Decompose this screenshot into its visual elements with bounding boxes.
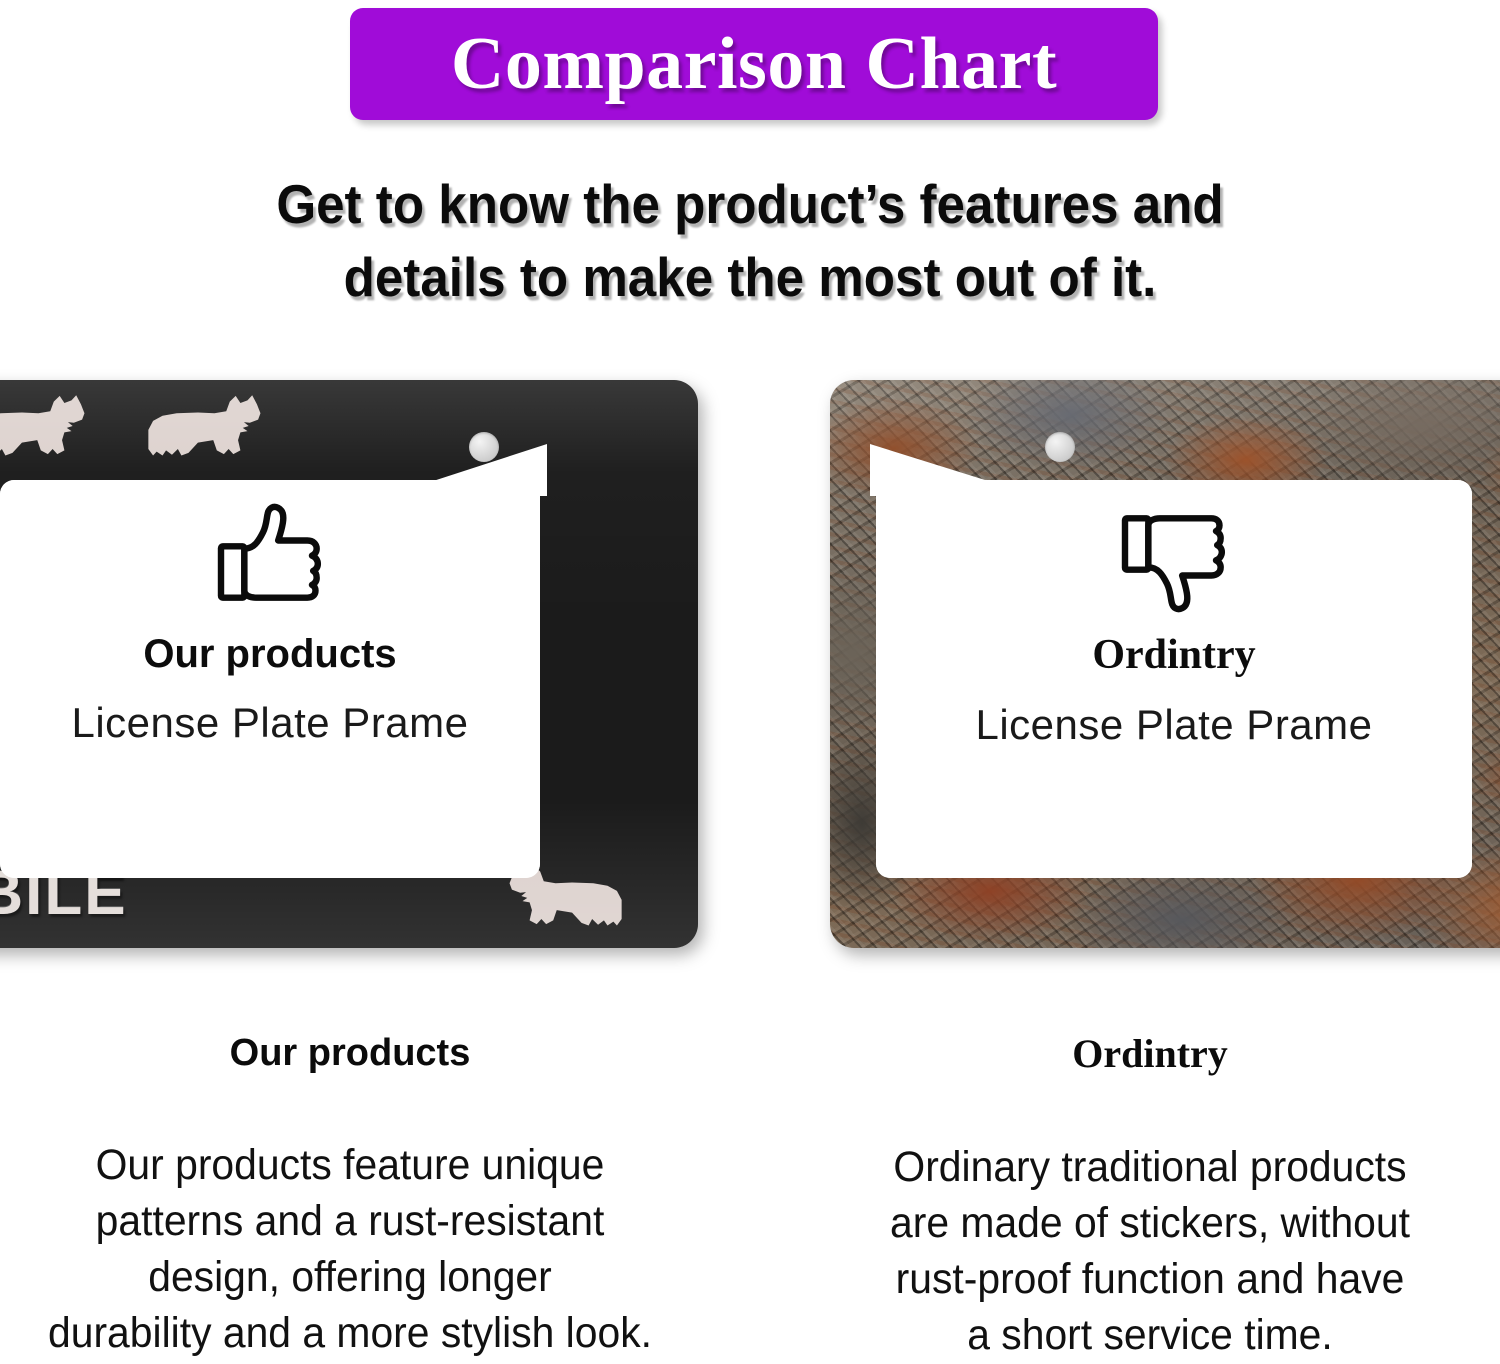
comparison-body-line: are made of stickers, without	[818, 1196, 1483, 1252]
comparison-body-line: patterns and a rust-resistant	[18, 1194, 683, 1250]
window-title-left: Our products	[143, 634, 396, 674]
window-subtitle-right: License Plate Prame	[975, 704, 1372, 746]
comparison-column-our-products: Our products Our products feature unique…	[0, 1034, 700, 1362]
license-plate-window-left: Our products License Plate Prame	[0, 480, 540, 878]
comparison-body-line: a short service time.	[818, 1308, 1483, 1364]
comparison-body-right: Ordinary traditional products are made o…	[818, 1140, 1483, 1364]
comparison-body-line: Our products feature unique	[18, 1138, 683, 1194]
comparison-column-ordintry: Ordintry Ordinary traditional products a…	[800, 1034, 1500, 1364]
window-subtitle-left: License Plate Prame	[71, 702, 468, 744]
corgi-silhouette-icon	[0, 394, 88, 458]
comparison-chart-title-banner: Comparison Chart	[350, 8, 1158, 120]
corgi-silhouette-icon	[146, 394, 264, 458]
thumbs-up-icon	[211, 502, 329, 614]
comparison-body-left: Our products feature unique patterns and…	[18, 1138, 683, 1362]
subtitle-line-2: details to make the most out of it.	[53, 241, 1448, 314]
comparison-body-line: Ordinary traditional products	[818, 1140, 1483, 1196]
comparison-heading-right: Ordintry	[800, 1034, 1500, 1074]
comparison-body-line: durability and a more stylish look.	[18, 1306, 683, 1362]
product-panel-our-products: RGI MOBILE Our products License Plate Pr…	[0, 380, 698, 948]
comparison-heading-left: Our products	[0, 1034, 700, 1072]
product-panel-ordintry: Ordintry License Plate Prame	[830, 380, 1500, 948]
screw-hole	[1045, 432, 1075, 462]
comparison-body-line: rust-proof function and have	[818, 1252, 1483, 1308]
thumbs-down-icon	[1115, 502, 1233, 614]
page-subtitle: Get to know the product’s features and d…	[53, 168, 1448, 313]
screw-hole	[469, 432, 499, 462]
comparison-body-line: design, offering longer	[18, 1250, 683, 1306]
subtitle-line-1: Get to know the product’s features and	[53, 168, 1448, 241]
license-plate-window-right: Ordintry License Plate Prame	[876, 480, 1472, 878]
page-title: Comparison Chart	[451, 27, 1057, 101]
window-title-right: Ordintry	[1092, 634, 1255, 676]
